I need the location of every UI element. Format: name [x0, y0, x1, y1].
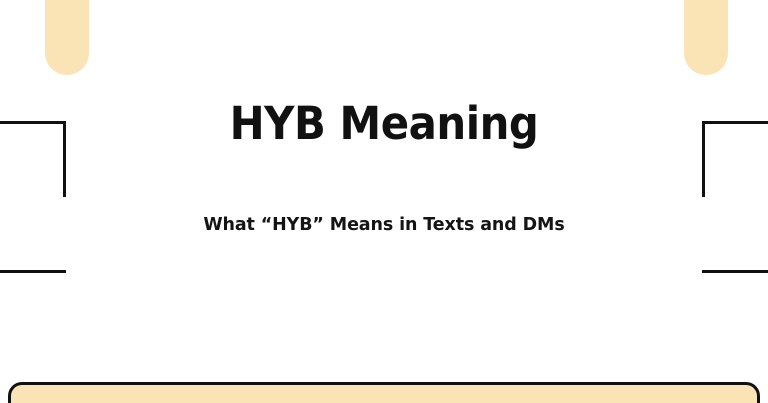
page-subtitle: What “HYB” Means in Texts and DMs: [12, 212, 757, 238]
infographic-canvas: HYB Meaning What “HYB” Means in Texts an…: [0, 0, 768, 403]
bracket-right-bottom-rule: [702, 270, 768, 273]
page-title: HYB Meaning: [27, 95, 741, 153]
bracket-left-bottom-rule: [0, 270, 66, 273]
tan-pill-left: [45, 0, 89, 75]
bottom-accent-banner: [8, 382, 760, 403]
tan-pill-right: [684, 0, 728, 75]
headline-block: HYB Meaning: [0, 95, 768, 153]
